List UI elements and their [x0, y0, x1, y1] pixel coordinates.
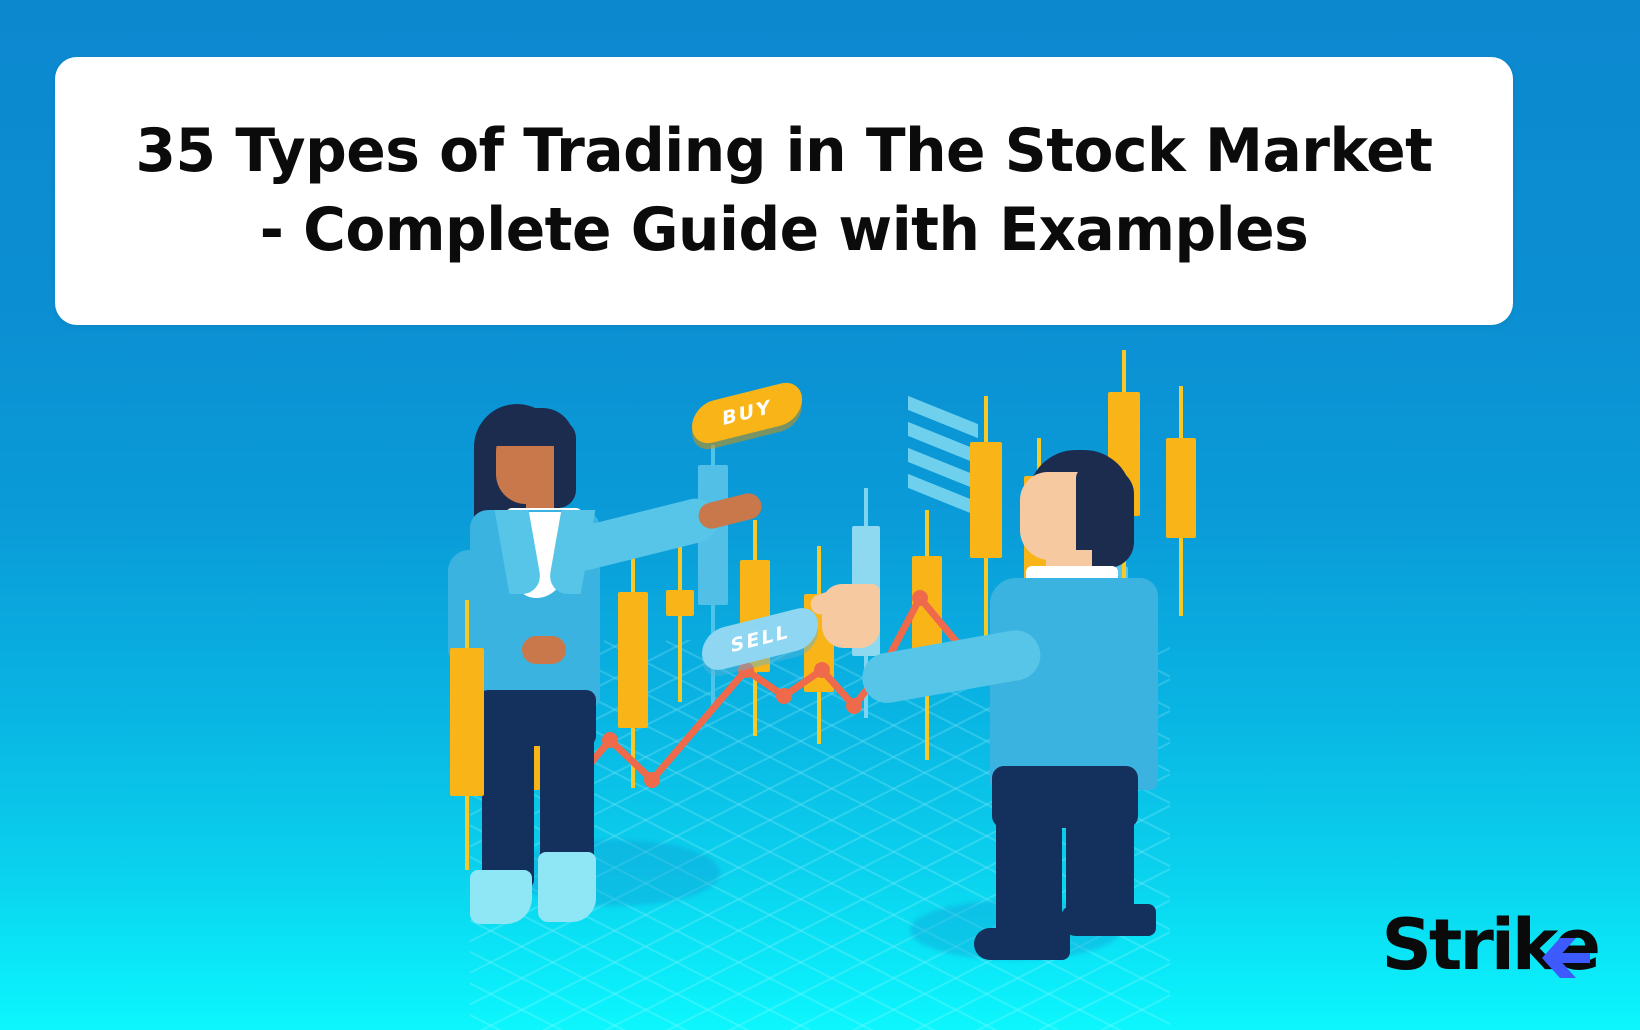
man-shoe-left: [974, 928, 1070, 960]
isometric-stage: BUY SELL: [440, 340, 1200, 1030]
woman-boot-left: [470, 870, 532, 924]
title-card: 35 Types of Trading in The Stock Market …: [55, 57, 1513, 325]
woman-arm-pointing: [557, 494, 723, 575]
sell-badge-label: SELL: [731, 621, 790, 658]
man-hip: [992, 766, 1138, 828]
man-trader-pointing: [870, 450, 1170, 950]
woman-hand-hip: [522, 636, 566, 664]
logo-arrow-icon: [1536, 936, 1592, 980]
page-title: 35 Types of Trading in The Stock Market …: [135, 112, 1433, 270]
strike-logo[interactable]: Strike: [1381, 910, 1598, 984]
man-shirt: [990, 578, 1158, 790]
buy-badge-label: BUY: [722, 396, 772, 430]
woman-boot-right: [538, 852, 596, 922]
woman-hair-side: [554, 420, 576, 508]
candlestick-yellow-front: [450, 600, 484, 870]
woman-hip: [478, 690, 596, 746]
man-shoe-right: [1060, 904, 1156, 936]
